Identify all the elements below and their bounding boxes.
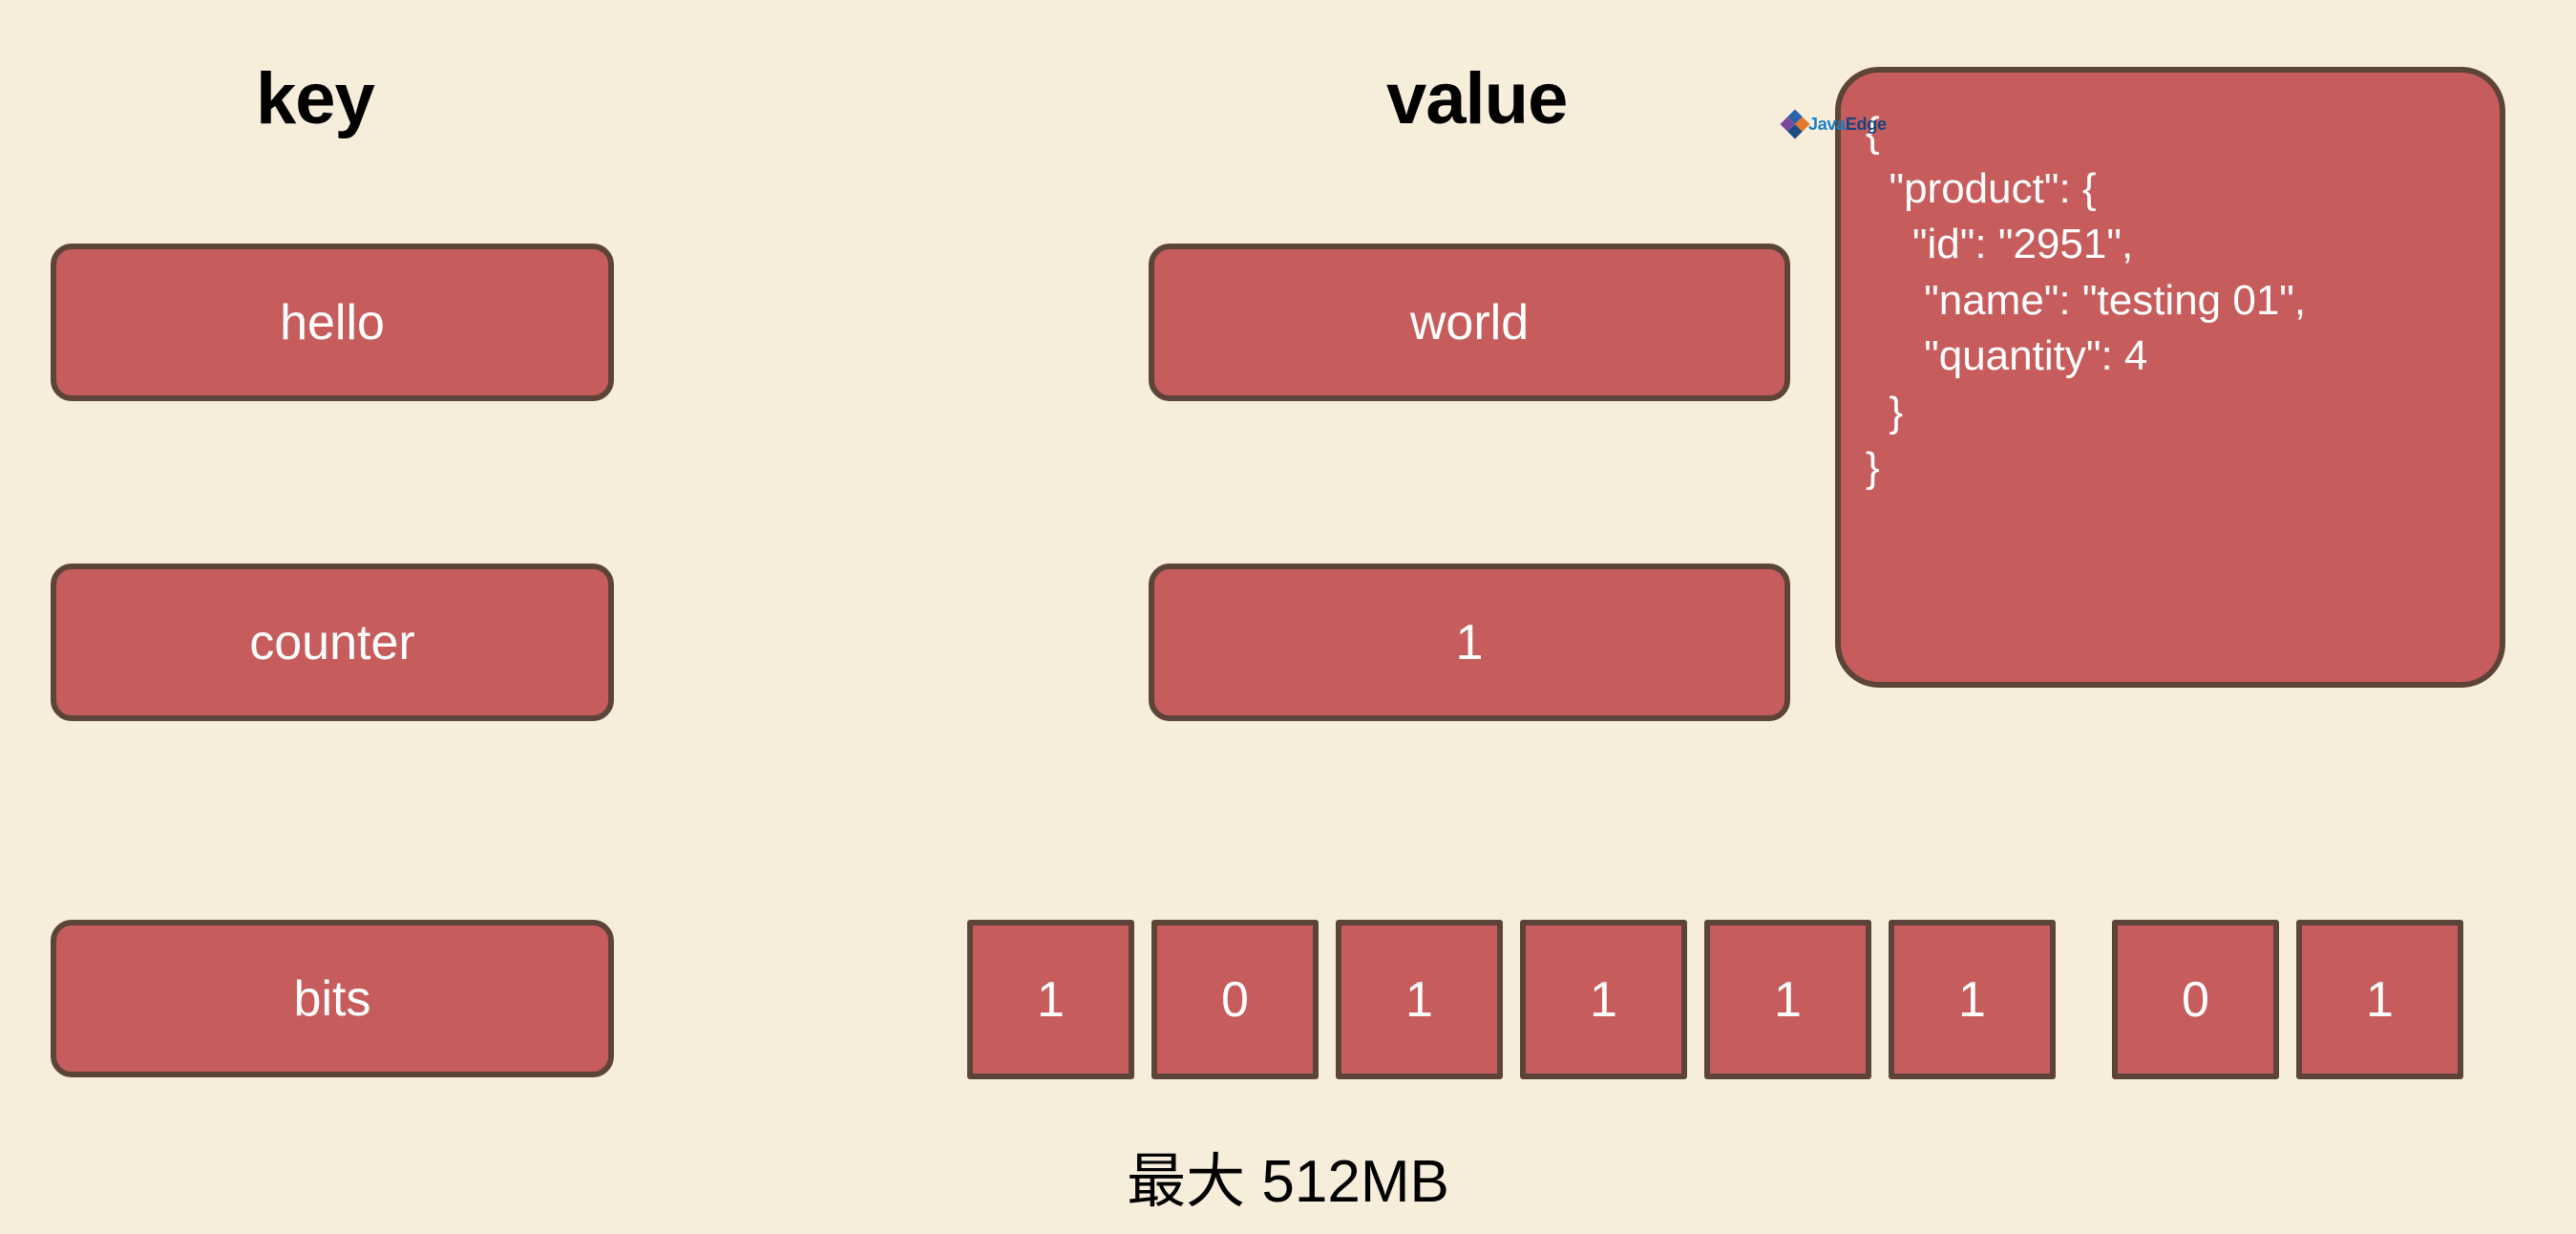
value-box-counter: 1	[1149, 564, 1790, 721]
bitmap-cells-row: 10111101	[967, 920, 2463, 1079]
bit-cell: 1	[1889, 920, 2056, 1079]
key-box-counter: counter	[51, 564, 614, 721]
value-box-json-document: { "product": { "id": "2951", "name": "te…	[1835, 67, 2505, 688]
key-box-bits: bits	[51, 920, 614, 1077]
bit-cell: 0	[2112, 920, 2279, 1079]
column-header-value: value	[1386, 57, 1567, 140]
bit-cell: 1	[1704, 920, 1871, 1079]
key-box-hello: hello	[51, 244, 614, 401]
javaedge-logo-icon	[1780, 109, 1809, 138]
bit-cell: 0	[1151, 920, 1319, 1079]
bit-cell: 1	[1336, 920, 1503, 1079]
diagram-canvas: key value hello counter bits world 1 { "…	[0, 0, 2576, 1234]
bit-cell: 1	[1520, 920, 1687, 1079]
value-box-world: world	[1149, 244, 1790, 401]
bit-cell: 1	[2296, 920, 2463, 1079]
footer-caption: 最大 512MB	[0, 1133, 2576, 1219]
column-header-key: key	[256, 57, 374, 140]
bit-cell: 1	[967, 920, 1134, 1079]
